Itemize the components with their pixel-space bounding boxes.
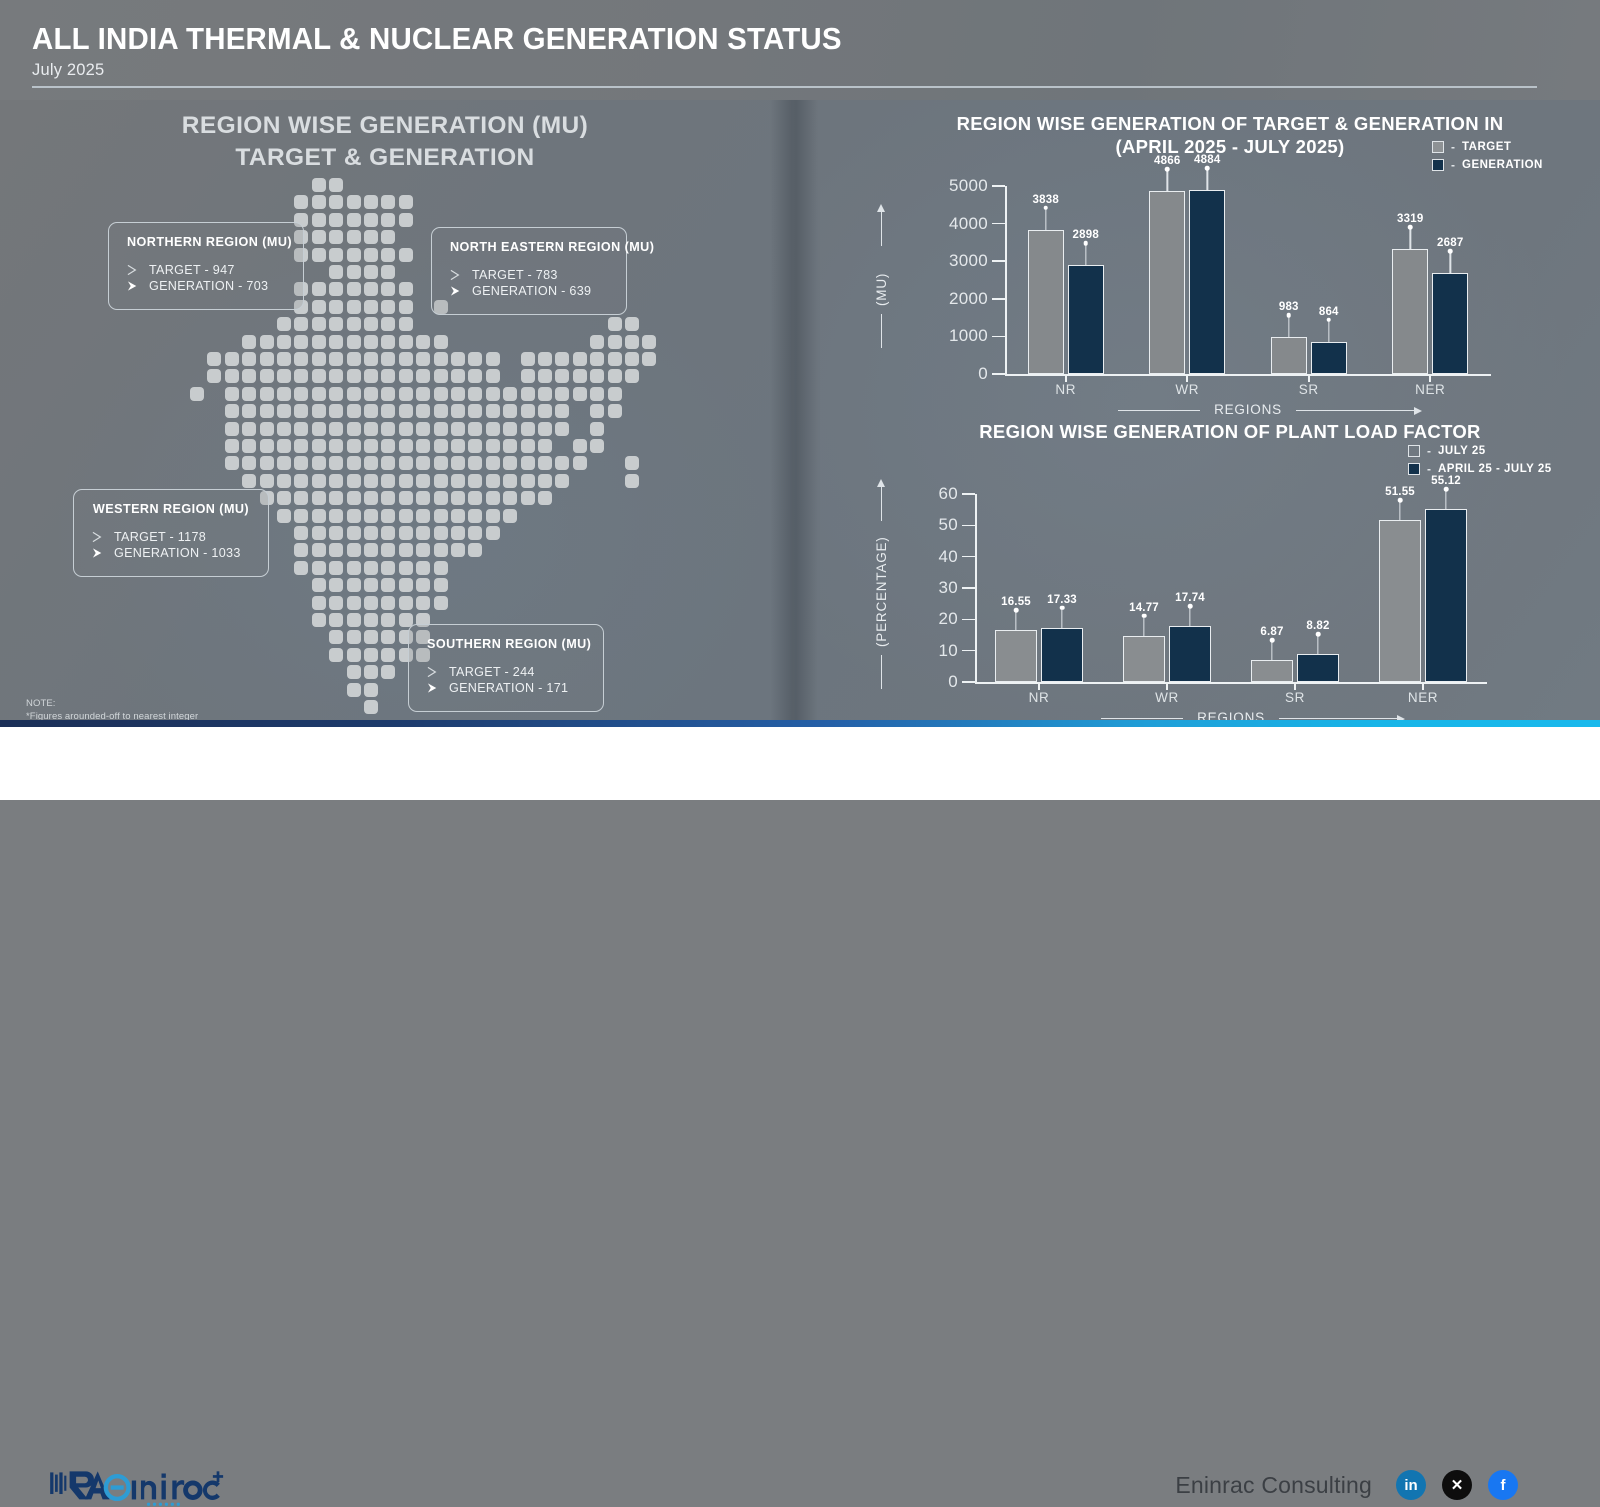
legend-dash: - <box>1427 444 1431 458</box>
map-dot <box>381 282 395 296</box>
map-dot <box>590 439 604 453</box>
map-dot <box>381 665 395 679</box>
chart-value-label: 55.12 <box>1431 475 1461 487</box>
chart-value-leader <box>1143 616 1144 636</box>
x-twitter-icon[interactable]: ✕ <box>1442 1470 1472 1500</box>
map-dot <box>364 630 378 644</box>
legend-item-july25: - JULY 25 <box>1408 444 1552 458</box>
map-dot <box>486 474 500 488</box>
map-dot <box>329 369 343 383</box>
map-dot <box>364 474 378 488</box>
chart-y-tick-label: 0 <box>910 364 988 384</box>
map-dot <box>381 230 395 244</box>
map-dot <box>538 369 552 383</box>
map-dot <box>608 352 622 366</box>
page-subtitle: July 2025 <box>32 61 1542 80</box>
map-dot <box>573 369 587 383</box>
legend-item-target: - TARGET <box>1432 140 1543 154</box>
map-dot <box>625 317 639 331</box>
map-dot <box>399 474 413 488</box>
chart-value-dot <box>1286 313 1291 318</box>
map-dot <box>294 422 308 436</box>
region-card-western: WESTERN REGION (MU) TARGET - 1178 GENERA… <box>73 489 269 577</box>
chart-value-dot <box>1043 205 1048 210</box>
chart-value-dot <box>1165 167 1170 172</box>
map-dot <box>555 369 569 383</box>
map-dot <box>329 526 343 540</box>
region-generation-row: GENERATION - 1033 <box>92 546 250 560</box>
map-dot <box>434 335 448 349</box>
map-dot <box>468 526 482 540</box>
map-dot <box>347 474 361 488</box>
map-dot <box>225 422 239 436</box>
map-dot <box>434 439 448 453</box>
map-dot <box>294 404 308 418</box>
map-dot <box>329 613 343 627</box>
map-dot <box>242 439 256 453</box>
map-dot <box>416 335 430 349</box>
map-dot <box>364 195 378 209</box>
map-dot <box>329 422 343 436</box>
chevron-outline-icon <box>427 666 440 678</box>
map-dot <box>521 387 535 401</box>
map-dot <box>416 422 430 436</box>
map-dot <box>347 300 361 314</box>
map-dot <box>312 561 326 575</box>
map-dot <box>416 369 430 383</box>
map-dot <box>277 474 291 488</box>
chart-value-label: 6.87 <box>1260 626 1283 638</box>
map-dot <box>538 456 552 470</box>
chart-bar <box>1041 628 1083 682</box>
map-dot <box>608 369 622 383</box>
map-dot <box>642 352 656 366</box>
map-dot <box>329 335 343 349</box>
map-dot <box>347 491 361 505</box>
map-dot <box>451 456 465 470</box>
map-dot <box>329 456 343 470</box>
chart-value-label: 4866 <box>1154 155 1180 167</box>
chart-value-label: 17.33 <box>1047 594 1077 606</box>
eninrac-logo <box>48 1467 226 1507</box>
map-dot <box>503 404 517 418</box>
region-generation-row: GENERATION - 171 <box>427 681 585 695</box>
chart-bar <box>1149 191 1185 374</box>
map-dot <box>347 352 361 366</box>
map-dot <box>329 509 343 523</box>
map-dot <box>312 509 326 523</box>
region-generation-row: GENERATION - 639 <box>450 284 608 298</box>
map-dot <box>381 317 395 331</box>
chart-y-tick <box>992 336 1005 338</box>
map-dot <box>486 404 500 418</box>
map-dot <box>312 282 326 296</box>
chart-y-tick <box>962 681 975 683</box>
map-dot <box>364 422 378 436</box>
map-dot <box>451 543 465 557</box>
map-dot <box>434 352 448 366</box>
chart-y-tick-label: 10 <box>880 641 958 661</box>
map-dot <box>329 195 343 209</box>
region-generation-row: GENERATION - 703 <box>127 279 285 293</box>
map-dot <box>312 439 326 453</box>
chart-value-leader <box>1189 606 1190 626</box>
chart-bar <box>1432 273 1468 374</box>
chart-x-category: WR <box>1155 690 1179 705</box>
chart-value-dot <box>1205 166 1210 171</box>
map-dot <box>312 543 326 557</box>
chart-value-dot <box>1408 225 1413 230</box>
map-dot <box>538 352 552 366</box>
chart-value-leader <box>1288 315 1289 337</box>
map-dot <box>521 404 535 418</box>
map-dot <box>347 265 361 279</box>
map-dot <box>329 178 343 192</box>
note-heading: NOTE: <box>26 698 198 711</box>
chart-value-leader <box>1410 227 1411 249</box>
left-panel-title-line2: TARGET & GENERATION <box>0 142 770 174</box>
map-dot <box>329 404 343 418</box>
map-dot <box>364 404 378 418</box>
chevron-filled-icon <box>92 547 105 559</box>
map-dot <box>312 422 326 436</box>
chart-y-tick <box>992 373 1005 375</box>
legend-item-generation: - GENERATION <box>1432 158 1543 172</box>
map-dot <box>347 683 361 697</box>
region-target-row: TARGET - 244 <box>427 665 585 679</box>
map-dot <box>347 509 361 523</box>
chart-value-label: 4884 <box>1194 154 1220 166</box>
map-dot <box>277 456 291 470</box>
region-target-row: TARGET - 1178 <box>92 530 250 544</box>
map-dot <box>555 456 569 470</box>
map-dot <box>329 352 343 366</box>
map-dot <box>260 369 274 383</box>
map-dot <box>486 439 500 453</box>
map-dot <box>468 352 482 366</box>
header-divider <box>32 86 1537 88</box>
chart1-legend: - TARGET - GENERATION <box>1432 140 1543 176</box>
map-dot <box>521 491 535 505</box>
map-dot <box>381 596 395 610</box>
map-dot <box>364 509 378 523</box>
map-dot <box>399 300 413 314</box>
map-dot <box>434 369 448 383</box>
map-dot <box>364 700 378 714</box>
map-dot <box>294 335 308 349</box>
map-dot <box>399 213 413 227</box>
infographic-canvas: ALL INDIA THERMAL & NUCLEAR GENERATION S… <box>0 0 1600 800</box>
map-dot <box>190 387 204 401</box>
map-dot <box>381 352 395 366</box>
map-dot <box>625 474 639 488</box>
region-card-title: NORTHERN REGION (MU) <box>127 235 285 249</box>
map-dot <box>381 630 395 644</box>
map-dot <box>399 596 413 610</box>
chart-value-leader <box>1015 610 1016 630</box>
left-panel-title-line1: REGION WISE GENERATION (MU) <box>0 110 770 142</box>
chart-value-leader <box>1085 243 1086 265</box>
map-dot <box>207 369 221 383</box>
map-dot <box>451 474 465 488</box>
map-dot <box>399 509 413 523</box>
map-dot <box>451 526 465 540</box>
map-dot <box>434 491 448 505</box>
legend-swatch-target <box>1432 141 1444 153</box>
map-dot <box>521 439 535 453</box>
map-dot <box>468 543 482 557</box>
map-dot <box>329 561 343 575</box>
map-dot <box>381 526 395 540</box>
chart-y-axis-rule-top <box>881 487 882 521</box>
chevron-filled-icon <box>427 682 440 694</box>
map-dot <box>468 369 482 383</box>
map-dot <box>399 387 413 401</box>
map-dot <box>364 578 378 592</box>
map-dot <box>329 248 343 262</box>
map-dot <box>347 543 361 557</box>
map-dot <box>364 491 378 505</box>
map-dot <box>347 195 361 209</box>
map-dot <box>364 561 378 575</box>
map-dot <box>347 630 361 644</box>
chart-x-axis-arrow <box>1414 407 1422 415</box>
map-dot <box>347 561 361 575</box>
map-dot <box>329 265 343 279</box>
map-dot <box>486 387 500 401</box>
chart-y-tick-label: 4000 <box>910 214 988 234</box>
map-dot <box>312 195 326 209</box>
chart-value-leader <box>1061 608 1062 628</box>
map-dot <box>364 230 378 244</box>
map-dot <box>312 596 326 610</box>
chart-value-label: 983 <box>1279 301 1299 313</box>
map-dot <box>277 404 291 418</box>
chart-x-axis-rule-left <box>1118 410 1200 411</box>
chart-bar <box>1297 654 1339 682</box>
map-dot <box>608 387 622 401</box>
map-dot <box>294 509 308 523</box>
map-dot <box>381 404 395 418</box>
chart-x-axis <box>975 682 1487 684</box>
map-dot <box>312 526 326 540</box>
chart-value-label: 51.55 <box>1385 486 1415 498</box>
chevron-outline-icon <box>450 269 463 281</box>
linkedin-icon[interactable]: in <box>1396 1470 1426 1500</box>
map-dot <box>381 300 395 314</box>
map-dot <box>312 300 326 314</box>
map-dot <box>329 213 343 227</box>
map-dot <box>277 491 291 505</box>
map-dot <box>277 335 291 349</box>
chart-y-tick <box>962 556 975 558</box>
map-dot <box>225 439 239 453</box>
map-dot <box>242 404 256 418</box>
map-dot <box>242 474 256 488</box>
map-dot <box>312 387 326 401</box>
map-dot <box>364 665 378 679</box>
map-dot <box>399 543 413 557</box>
region-target-row: TARGET - 783 <box>450 268 608 282</box>
chart-y-tick <box>962 619 975 621</box>
legend-item-april-july25: - APRIL 25 - JULY 25 <box>1408 462 1552 476</box>
map-dot <box>260 439 274 453</box>
map-dot <box>555 352 569 366</box>
map-dot <box>521 422 535 436</box>
map-dot <box>242 369 256 383</box>
map-dot <box>347 526 361 540</box>
map-dot <box>451 387 465 401</box>
map-dot <box>590 422 604 436</box>
map-dot <box>486 509 500 523</box>
map-dot <box>347 248 361 262</box>
map-dot <box>521 352 535 366</box>
map-dot <box>277 509 291 523</box>
map-dot <box>329 230 343 244</box>
map-dot <box>538 491 552 505</box>
map-dot <box>260 404 274 418</box>
chart-bar <box>995 630 1037 682</box>
map-dot <box>486 369 500 383</box>
chart-y-axis <box>975 494 977 683</box>
chart-x-category: NER <box>1408 690 1438 705</box>
map-dot <box>468 509 482 523</box>
chart-bar <box>1271 337 1307 374</box>
map-dot <box>451 404 465 418</box>
chart-value-dot <box>1060 605 1065 610</box>
map-dot <box>468 422 482 436</box>
map-dot <box>364 317 378 331</box>
map-dot <box>451 352 465 366</box>
chart2-legend: - JULY 25 - APRIL 25 - JULY 25 <box>1408 444 1552 480</box>
map-dot <box>503 456 517 470</box>
region-generation-label: GENERATION - 703 <box>149 279 268 293</box>
legend-dash: - <box>1451 158 1455 172</box>
map-dot <box>225 387 239 401</box>
region-target-label: TARGET - 244 <box>449 665 535 679</box>
map-dot <box>242 335 256 349</box>
legend-label-generation: GENERATION <box>1462 159 1543 171</box>
map-dot <box>381 491 395 505</box>
map-dot <box>225 369 239 383</box>
legend-label-april-july25: APRIL 25 - JULY 25 <box>1438 463 1552 475</box>
map-dot <box>399 404 413 418</box>
map-dot <box>451 422 465 436</box>
chart-y-axis-rule-bottom <box>881 314 882 348</box>
chart-bar <box>1392 249 1428 374</box>
panel-divider <box>770 100 818 720</box>
map-dot <box>399 422 413 436</box>
map-dot <box>347 230 361 244</box>
region-target-label: TARGET - 783 <box>472 268 558 282</box>
map-dot <box>312 178 326 192</box>
chart-y-axis-title: (MU) <box>874 254 889 306</box>
map-dot <box>416 509 430 523</box>
map-dot <box>329 317 343 331</box>
chart-y-tick <box>962 587 975 589</box>
footer-right: Eninrac Consulting in ✕ f <box>1175 1470 1518 1500</box>
chart-value-leader <box>1445 489 1446 509</box>
legend-dash: - <box>1427 462 1431 476</box>
chart-value-dot <box>1448 249 1453 254</box>
chart-y-axis <box>1005 186 1007 375</box>
map-dot <box>468 491 482 505</box>
map-dot <box>242 422 256 436</box>
map-dot <box>503 491 517 505</box>
map-dot <box>625 369 639 383</box>
map-dot <box>416 352 430 366</box>
map-dot <box>486 526 500 540</box>
chart-y-tick <box>962 525 975 527</box>
chart-value-dot <box>1326 317 1331 322</box>
map-dot <box>312 335 326 349</box>
map-dot <box>242 352 256 366</box>
map-dot <box>434 422 448 436</box>
map-dot <box>503 387 517 401</box>
chart-y-axis-rule-bottom <box>881 655 882 689</box>
map-dot <box>399 561 413 575</box>
chart-value-label: 3838 <box>1033 194 1059 206</box>
map-dot <box>416 404 430 418</box>
region-card-title: WESTERN REGION (MU) <box>92 502 250 516</box>
chart-y-tick-label: 50 <box>880 515 958 535</box>
region-generation-label: GENERATION - 1033 <box>114 546 241 560</box>
map-dot <box>312 369 326 383</box>
map-dot <box>590 404 604 418</box>
map-dot <box>294 456 308 470</box>
map-dot <box>242 387 256 401</box>
region-target-row: TARGET - 947 <box>127 263 285 277</box>
map-dot <box>434 387 448 401</box>
map-dot <box>451 491 465 505</box>
map-dot <box>225 404 239 418</box>
map-dot <box>381 195 395 209</box>
map-dot <box>399 352 413 366</box>
map-dot <box>573 352 587 366</box>
map-dot <box>364 352 378 366</box>
chart-y-axis-arrow <box>877 204 885 212</box>
facebook-icon[interactable]: f <box>1488 1470 1518 1500</box>
map-dot <box>381 543 395 557</box>
region-card-title: SOUTHERN REGION (MU) <box>427 637 585 651</box>
map-dot <box>399 578 413 592</box>
map-dot <box>486 422 500 436</box>
map-dot <box>364 526 378 540</box>
map-dot <box>381 509 395 523</box>
map-dot <box>434 404 448 418</box>
chart-bar <box>1189 190 1225 374</box>
map-dot <box>642 335 656 349</box>
map-dot <box>294 352 308 366</box>
map-dot <box>555 422 569 436</box>
chart-x-category: NR <box>1055 382 1076 397</box>
map-dot <box>347 613 361 627</box>
chart-y-axis-title: (PERCENTAGE) <box>874 529 889 647</box>
linkedin-glyph: in <box>1404 1478 1417 1493</box>
map-dot <box>434 561 448 575</box>
footer-accent-bar <box>0 720 1600 727</box>
chart-value-label: 864 <box>1319 306 1339 318</box>
map-dot <box>329 387 343 401</box>
chart-bar <box>1311 342 1347 374</box>
map-dot <box>555 387 569 401</box>
legend-label-july25: JULY 25 <box>1438 445 1486 457</box>
map-dot <box>451 509 465 523</box>
chart2-title: REGION WISE GENERATION OF PLANT LOAD FAC… <box>930 421 1530 444</box>
chart-value-leader <box>1317 634 1318 654</box>
x-twitter-glyph: ✕ <box>1451 1478 1464 1493</box>
map-dot <box>381 369 395 383</box>
